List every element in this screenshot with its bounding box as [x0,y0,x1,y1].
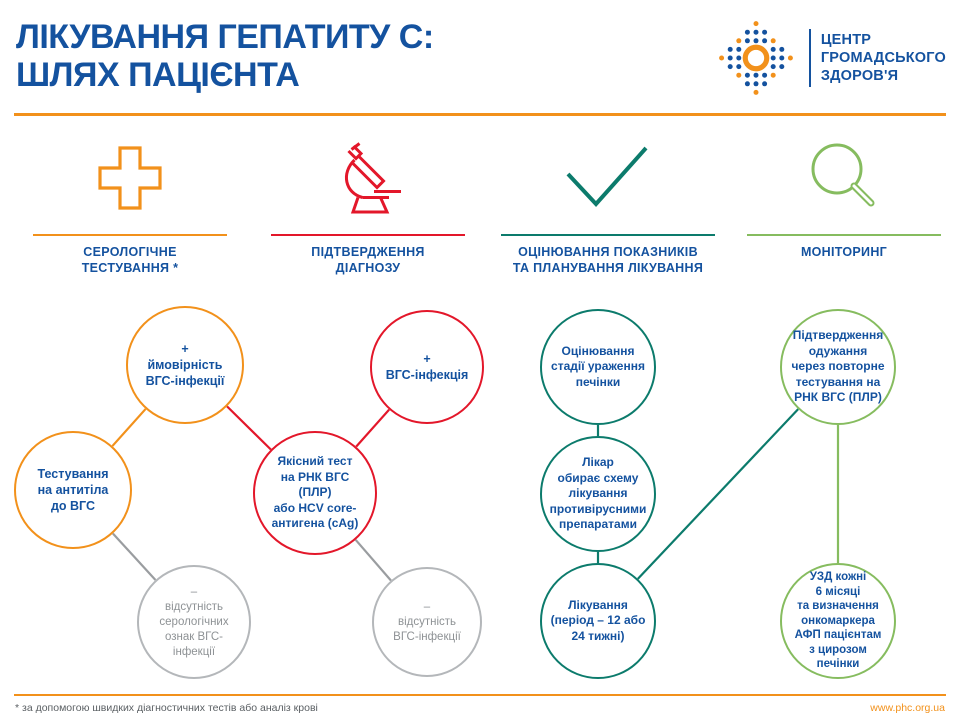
flow-node-label: Якісний тест на РНК ВГС (ПЛР) або HCV co… [255,454,375,532]
flow-node-label: Лікар обирає схему лікування противірусн… [542,455,655,533]
connector-antibody-to-negative [113,533,156,579]
section-label: МОНІТОРИНГ [740,244,948,260]
section-header-row: СЕРОЛОГІЧНЕ ТЕСТУВАННЯ * ПІДТВЕ [0,128,960,288]
section-label: ПІДТВЕРДЖЕННЯ ДІАГНОЗУ [264,244,472,276]
flow-node-doctor-selects-regimen: Лікар обирає схему лікування противірусн… [540,436,656,552]
flow-node-label: Тестування на антитіла до ВГС [29,466,116,514]
logo-wordmark: ЦЕНТР ГРОМАДСЬКОГО ЗДОРОВ'Я [821,31,946,85]
section-diagnosis-confirmation: ПІДТВЕРДЖЕННЯ ДІАГНОЗУ [264,128,472,276]
flow-node-antibody-test: Тестування на антитіла до ВГС [14,431,132,549]
checkmark-icon [484,128,732,228]
flow-node-label: – відсутність серологічних ознак ВГС- ін… [151,585,236,660]
section-label: ОЦІНЮВАННЯ ПОКАЗНИКІВ ТА ПЛАНУВАННЯ ЛІКУ… [484,244,732,276]
flow-node-treatment-duration: Лікування (період – 12 або 24 тижні) [540,563,656,679]
section-rule [271,234,465,236]
medical-cross-icon [26,128,234,228]
section-monitoring: МОНІТОРИНГ [740,128,948,260]
connector-antibody-to-probable [112,409,145,446]
section-assessment-planning: ОЦІНЮВАННЯ ПОКАЗНИКІВ ТА ПЛАНУВАННЯ ЛІКУ… [484,128,732,276]
flow-node-label: + ймовірність ВГС-інфекції [138,341,233,389]
section-rule [33,234,227,236]
infographic-page: ЛІКУВАННЯ ГЕПАТИТУ С: ШЛЯХ ПАЦІЄНТА ЦЕНТ… [0,0,960,720]
connector-rna-to-confirmed [356,410,389,447]
flow-node-label: Підтвердження одужання через повторне те… [783,328,892,406]
magnifier-icon [740,128,948,228]
flow-node-label: + ВГС-інфекція [378,351,477,383]
connector-treatment-to-cure [638,409,798,579]
flow-node-label: Оцінювання стадії ураження печінки [543,344,653,391]
organization-logo: ЦЕНТР ГРОМАДСЬКОГО ЗДОРОВ'Я [713,18,946,98]
flow-node-liver-stage-assessment: Оцінювання стадії ураження печінки [540,309,656,425]
flow-node-label: Лікування (період – 12 або 24 тижні) [543,598,654,645]
flow-node-label: УЗД кожні 6 місяці та визначення онкомар… [787,570,890,672]
section-serological-testing: СЕРОЛОГІЧНЕ ТЕСТУВАННЯ * [26,128,234,276]
flow-node-ultrasound-monitoring: УЗД кожні 6 місяці та визначення онкомар… [780,563,896,679]
phc-diamond-dots-logo-icon [713,15,799,101]
microscope-icon [264,128,472,228]
header-rule [14,113,946,116]
flow-node-label: – відсутність ВГС-інфекції [385,600,469,645]
flow-node-confirmed-infection: + ВГС-інфекція [370,310,484,424]
section-label: СЕРОЛОГІЧНЕ ТЕСТУВАННЯ * [26,244,234,276]
website-link[interactable]: www.phc.org.ua [870,701,945,715]
section-rule [501,234,715,236]
footer-rule [14,694,946,696]
flow-node-cure-confirmation: Підтвердження одужання через повторне те… [780,309,896,425]
flow-node-rna-test: Якісний тест на РНК ВГС (ПЛР) або HCV co… [253,431,377,555]
section-rule [747,234,941,236]
footnote: * за допомогою швидких діагностичних тес… [15,701,318,715]
logo-divider [809,29,811,87]
flow-node-no-serological-signs: – відсутність серологічних ознак ВГС- ін… [137,565,251,679]
page-header: ЛІКУВАННЯ ГЕПАТИТУ С: ШЛЯХ ПАЦІЄНТА ЦЕНТ… [0,0,960,112]
connector-rna-to-negative [356,540,391,581]
flow-node-probable-infection: + ймовірність ВГС-інфекції [126,306,244,424]
connector-probable-to-rna [227,406,271,449]
page-title: ЛІКУВАННЯ ГЕПАТИТУ С: ШЛЯХ ПАЦІЄНТА [16,18,434,94]
flow-node-no-infection: – відсутність ВГС-інфекції [372,567,482,677]
